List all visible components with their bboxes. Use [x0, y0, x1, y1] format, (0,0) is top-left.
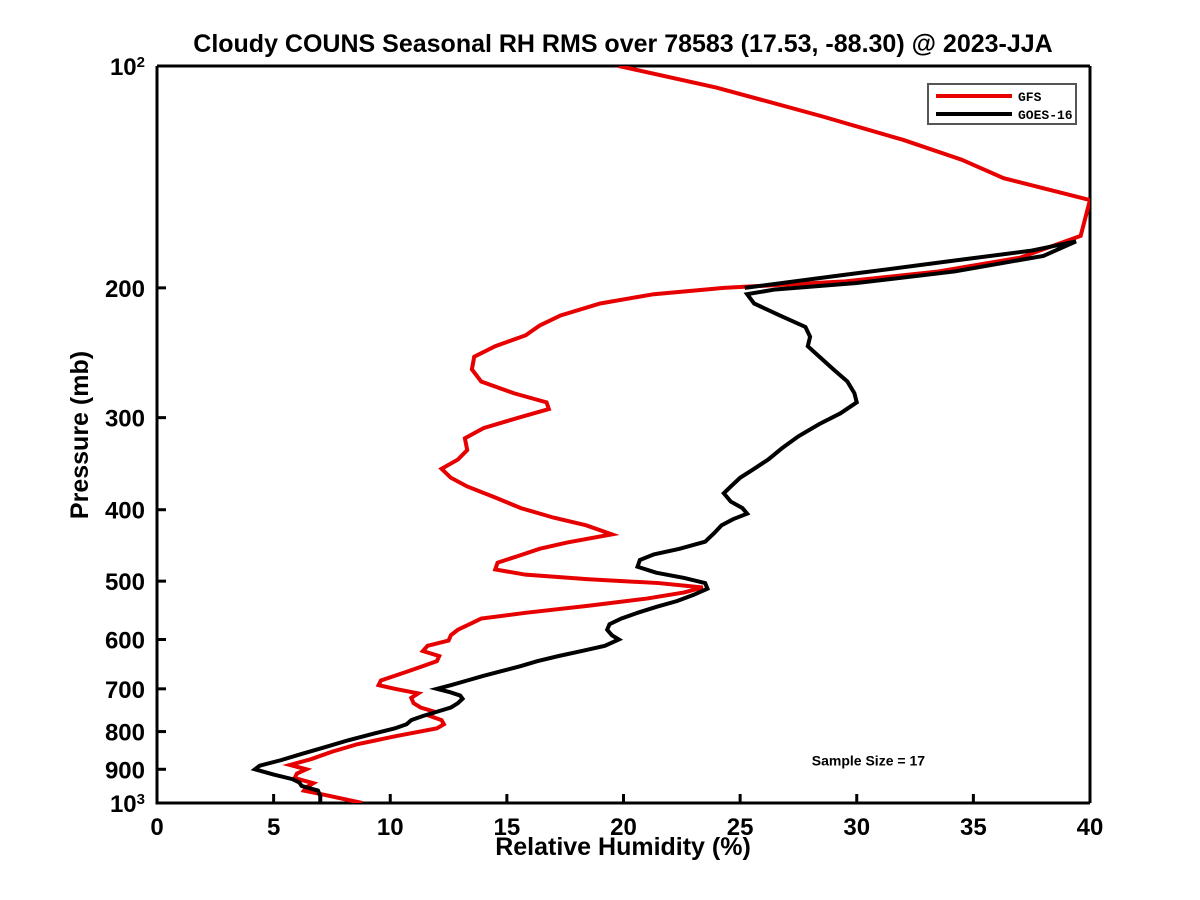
plot-axes-frame — [157, 66, 1090, 803]
series-line-goes-16 — [255, 241, 1076, 803]
chart-figure: Cloudy COUNS Seasonal RH RMS over 78583 … — [0, 0, 1200, 900]
x-tick-label: 10 — [377, 814, 404, 841]
data-series-group — [255, 66, 1090, 803]
x-axis-label: Relative Humidity (%) — [495, 833, 751, 861]
x-tick-label: 40 — [1077, 814, 1104, 841]
y-tick-label: 800 — [105, 720, 145, 747]
y-tick-label: 500 — [105, 569, 145, 596]
y-tick-label: 102 — [110, 54, 145, 82]
chart-legend[interactable]: GFS GOES-16 — [928, 84, 1076, 124]
y-tick-label: 200 — [105, 276, 145, 303]
y-tick-label: 600 — [105, 627, 145, 654]
x-tick-label: 0 — [150, 814, 163, 841]
x-tick-label: 5 — [267, 814, 280, 841]
y-axis-label: Pressure (mb) — [66, 351, 94, 519]
legend-label-goes16: GOES-16 — [1018, 108, 1073, 123]
y-tick-label: 900 — [105, 757, 145, 784]
chart-title: Cloudy COUNS Seasonal RH RMS over 78583 … — [193, 30, 1052, 58]
y-tick-label: 103 — [110, 791, 145, 819]
x-tick-label: 30 — [843, 814, 870, 841]
y-tick-label: 400 — [105, 498, 145, 525]
y-axis-tick-labels: 102200300400500600700800900103 — [105, 54, 145, 819]
series-line-gfs — [290, 66, 1090, 803]
sample-size-annotation: Sample Size = 17 — [812, 753, 925, 769]
y-tick-label: 700 — [105, 677, 145, 704]
legend-label-gfs: GFS — [1018, 90, 1042, 105]
chart-annotations: Sample Size = 17 — [812, 753, 925, 769]
y-tick-label: 300 — [105, 406, 145, 433]
rh-rms-profile-chart: Cloudy COUNS Seasonal RH RMS over 78583 … — [0, 0, 1200, 900]
x-tick-label: 35 — [960, 814, 987, 841]
